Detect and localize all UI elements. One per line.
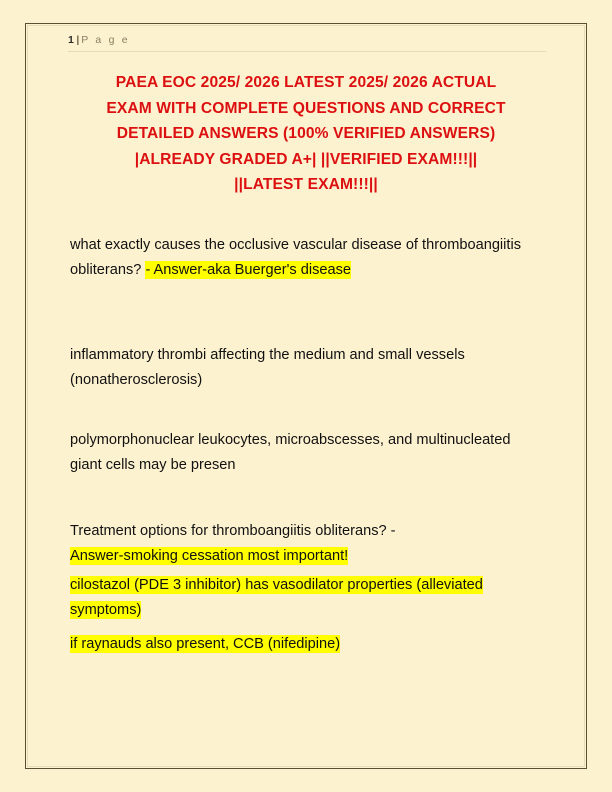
paragraph-block-2: inflammatory thrombi affecting the mediu… xyxy=(70,343,540,392)
paragraph-6: if raynauds also present, CCB (nifedipin… xyxy=(70,632,540,657)
title-line-4: |ALREADY GRADED A+| ||VERIFIED EXAM!!!|| xyxy=(62,147,550,173)
title-line-1: PAEA EOC 2025/ 2026 LATEST 2025/ 2026 AC… xyxy=(62,70,550,96)
title-line-3: DETAILED ANSWERS (100% VERIFIED ANSWERS) xyxy=(62,121,550,147)
document-page: 1|P a g e PAEA EOC 2025/ 2026 LATEST 202… xyxy=(0,0,612,792)
question-1-answer: - Answer-aka Buerger's disease xyxy=(145,261,351,279)
title-line-5: ||LATEST EXAM!!!|| xyxy=(62,172,550,198)
document-title: PAEA EOC 2025/ 2026 LATEST 2025/ 2026 AC… xyxy=(62,70,550,198)
answer-5-text: cilostazol (PDE 3 inhibitor) has vasodil… xyxy=(70,576,483,619)
question-1: what exactly causes the occlusive vascul… xyxy=(70,233,540,282)
paragraph-block-3: polymorphonuclear leukocytes, microabsce… xyxy=(70,428,540,477)
answer-6-text: if raynauds also present, CCB (nifedipin… xyxy=(70,635,340,653)
paragraph-5: cilostazol (PDE 3 inhibitor) has vasodil… xyxy=(70,573,540,622)
title-line-2: EXAM WITH COMPLETE QUESTIONS AND CORRECT xyxy=(62,96,550,122)
header-divider xyxy=(68,51,546,52)
page-header: 1|P a g e xyxy=(68,33,546,47)
header-page-label: P a g e xyxy=(81,34,129,46)
page-content: 1|P a g e PAEA EOC 2025/ 2026 LATEST 202… xyxy=(0,0,612,792)
answer-block-5: cilostazol (PDE 3 inhibitor) has vasodil… xyxy=(70,573,540,622)
question-2: Treatment options for thromboangiitis ob… xyxy=(70,519,540,568)
qa-block-2: Treatment options for thromboangiitis ob… xyxy=(70,519,540,568)
question-2-answer: Answer-smoking cessation most important! xyxy=(70,547,348,565)
question-2-text: Treatment options for thromboangiitis ob… xyxy=(70,523,396,539)
paragraph-3: polymorphonuclear leukocytes, microabsce… xyxy=(70,428,540,477)
answer-block-6: if raynauds also present, CCB (nifedipin… xyxy=(70,632,540,657)
header-page-indicator: 1|P a g e xyxy=(68,33,546,47)
qa-block-1: what exactly causes the occlusive vascul… xyxy=(70,233,540,282)
paragraph-2: inflammatory thrombi affecting the mediu… xyxy=(70,343,540,392)
